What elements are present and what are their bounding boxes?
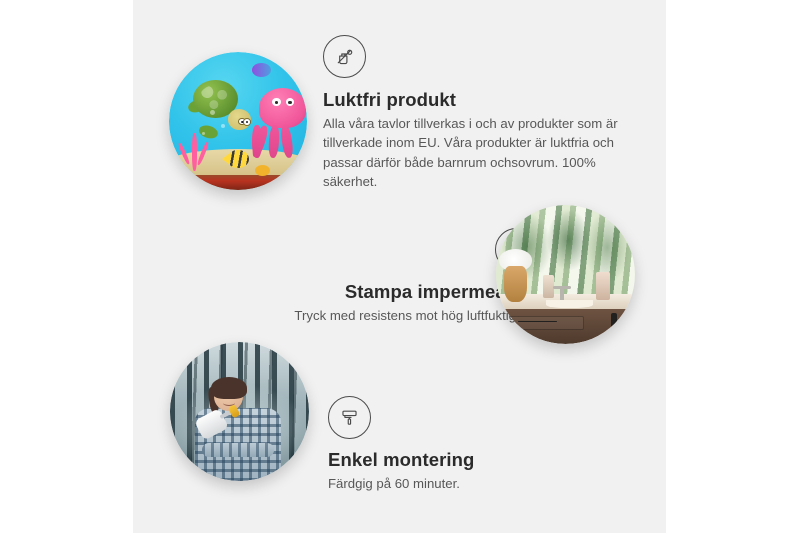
turtle-icon <box>188 80 249 132</box>
screenshot-stage: Luktfri produkt Alla våra tavlor tillver… <box>0 0 800 533</box>
feature-description: Färdgig på 60 minuter. <box>328 474 628 493</box>
sink-basin <box>546 300 593 308</box>
painter-person <box>195 381 281 481</box>
feature-block-waterproof: Stampa impermeabile Tryck med resistens … <box>208 228 538 325</box>
feature-description: Alla våra tavlor tillverkas i och av pro… <box>323 114 623 191</box>
feature-title: Enkel montering <box>328 449 628 470</box>
feature-description: Tryck med resistens mot hög luftfuktighe… <box>208 306 538 325</box>
small-fish-icon <box>252 63 271 77</box>
ocean-floor-strip <box>169 175 307 190</box>
paint-roller-icon <box>328 396 371 439</box>
small-fish-icon <box>255 165 270 176</box>
no-fragrance-icon <box>323 35 366 78</box>
striped-fish-icon <box>227 150 249 168</box>
feature-title: Stampa impermeabile <box>208 281 538 302</box>
product-photo-painter <box>170 342 309 481</box>
product-feature-panel: Luktfri produkt Alla våra tavlor tillver… <box>133 0 666 533</box>
product-photo-ocean <box>169 52 307 190</box>
product-photo-bathroom <box>496 205 635 344</box>
wooden-vanity <box>496 309 635 344</box>
vase-icon <box>504 266 526 302</box>
octopus-icon <box>252 88 307 157</box>
bottle-icon <box>596 272 610 300</box>
feature-block-easymount: Enkel montering Färdgig på 60 minuter. <box>328 396 628 493</box>
feature-block-odourfree: Luktfri produkt Alla våra tavlor tillver… <box>323 35 623 191</box>
feature-title: Luktfri produkt <box>323 89 623 110</box>
faucet-icon <box>560 286 564 300</box>
